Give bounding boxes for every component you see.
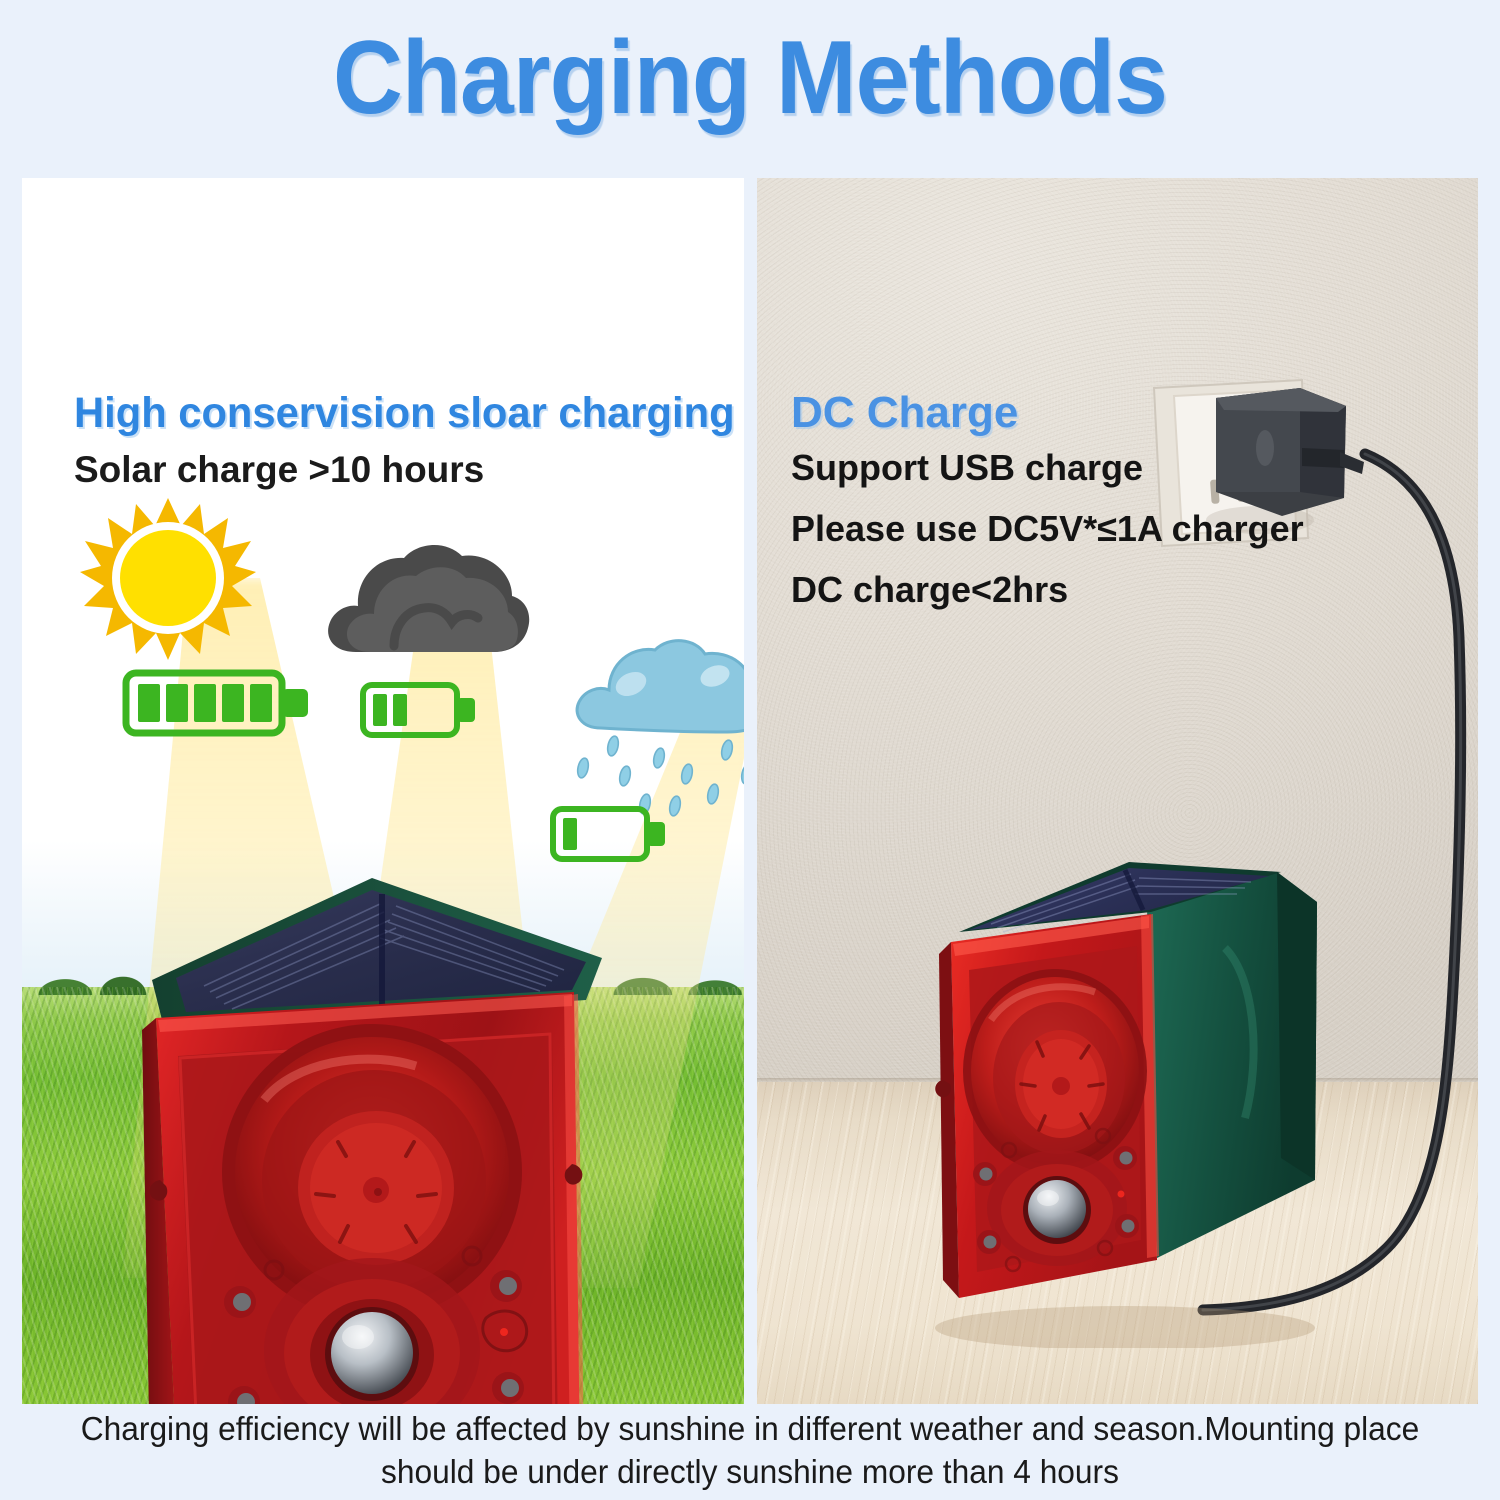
solar-siren-front	[134, 850, 604, 1404]
solar-heading: High conservision sloar charging	[74, 389, 735, 438]
dc-line-1: Support USB charge	[791, 447, 1143, 489]
footer-line-2: should be under directly sunshine more t…	[30, 1451, 1470, 1494]
dc-line-2: Please use DC5V*≤1A charger	[791, 508, 1304, 550]
page-title: Charging Methods	[53, 26, 1448, 130]
dc-line-3: DC charge<2hrs	[791, 569, 1068, 611]
solar-charging-panel: High conservision sloar charging Solar c…	[22, 178, 744, 1404]
footer-line-1: Charging efficiency will be affected by …	[30, 1408, 1470, 1451]
solar-siren-angled	[925, 828, 1345, 1348]
solar-subheading: Solar charge >10 hours	[74, 449, 484, 491]
sun-icon	[80, 496, 256, 662]
battery-full-icon	[122, 665, 318, 741]
rain-cloud-icon	[567, 628, 744, 828]
dc-heading: DC Charge	[791, 388, 1018, 438]
dark-cloud-icon	[322, 530, 534, 676]
dc-charge-panel: DC Charge Support USB charge Please use …	[757, 178, 1478, 1404]
footer-note: Charging efficiency will be affected by …	[30, 1408, 1470, 1494]
battery-medium-icon	[360, 679, 478, 741]
